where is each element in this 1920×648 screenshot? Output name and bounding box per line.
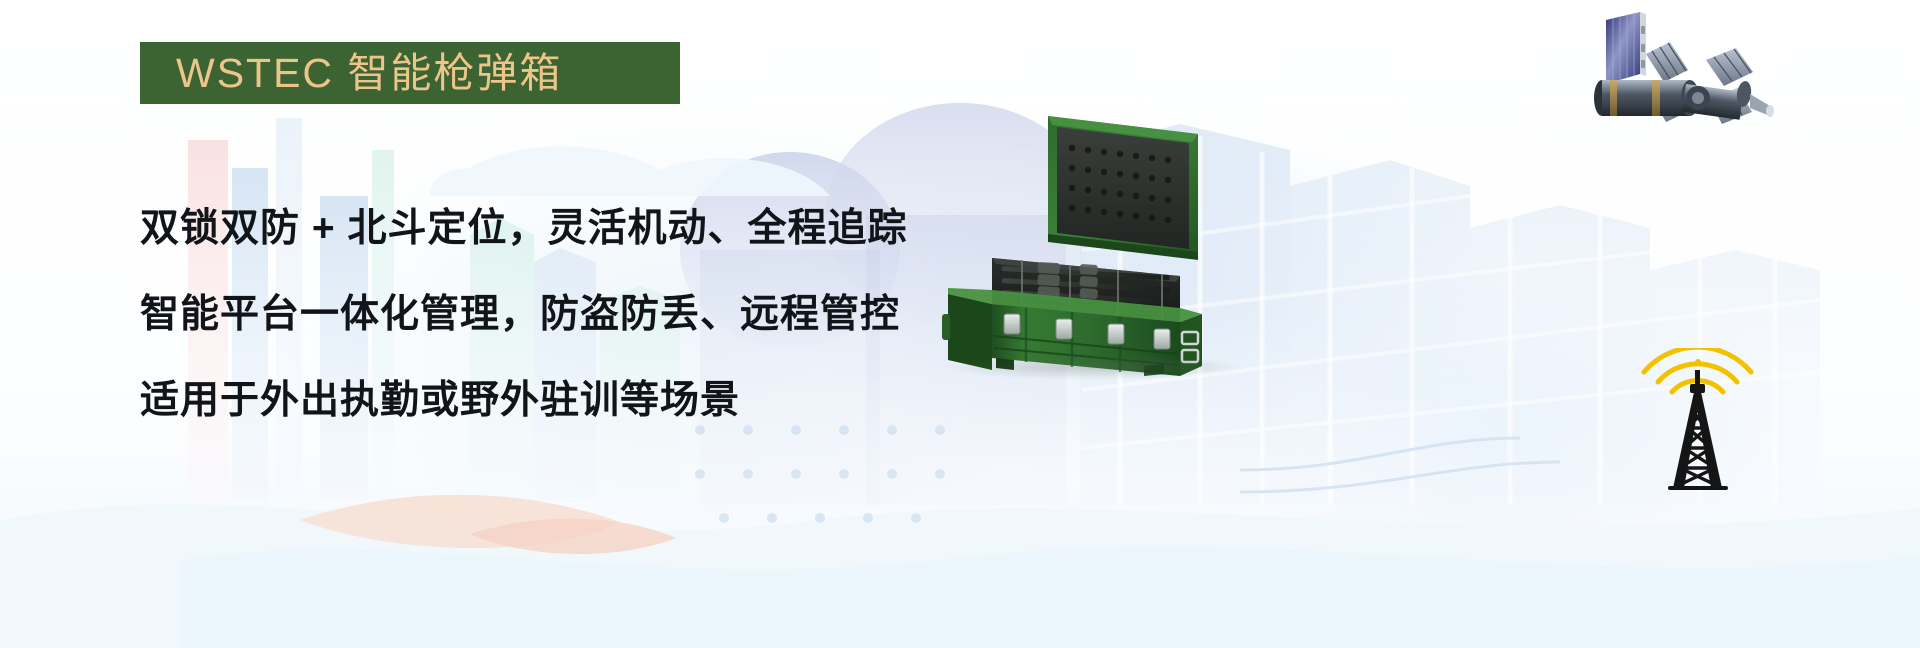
signal-tower-illustration (1610, 348, 1785, 493)
satellite-icon (1588, 2, 1778, 142)
ammunition-case-illustration (930, 108, 1270, 398)
signal-tower-icon (1610, 348, 1785, 493)
satellite-illustration (1588, 2, 1778, 142)
feature-line-2: 智能平台一体化管理，防盗防丢、远程管控 (140, 272, 970, 358)
feature-line-3: 适用于外出执勤或野外驻训等场景 (140, 358, 970, 444)
promo-banner-canvas: WSTEC 智能枪弹箱 双锁双防 + 北斗定位，灵活机动、全程追踪 智能平台一体… (0, 0, 1920, 648)
feature-text-block: 双锁双防 + 北斗定位，灵活机动、全程追踪 智能平台一体化管理，防盗防丢、远程管… (140, 186, 970, 444)
case-drop-shadow (940, 354, 1250, 380)
banner-title-text: WSTEC 智能枪弹箱 (176, 53, 562, 94)
title-banner: WSTEC 智能枪弹箱 (140, 42, 680, 104)
feature-line-1: 双锁双防 + 北斗定位，灵活机动、全程追踪 (140, 186, 970, 272)
